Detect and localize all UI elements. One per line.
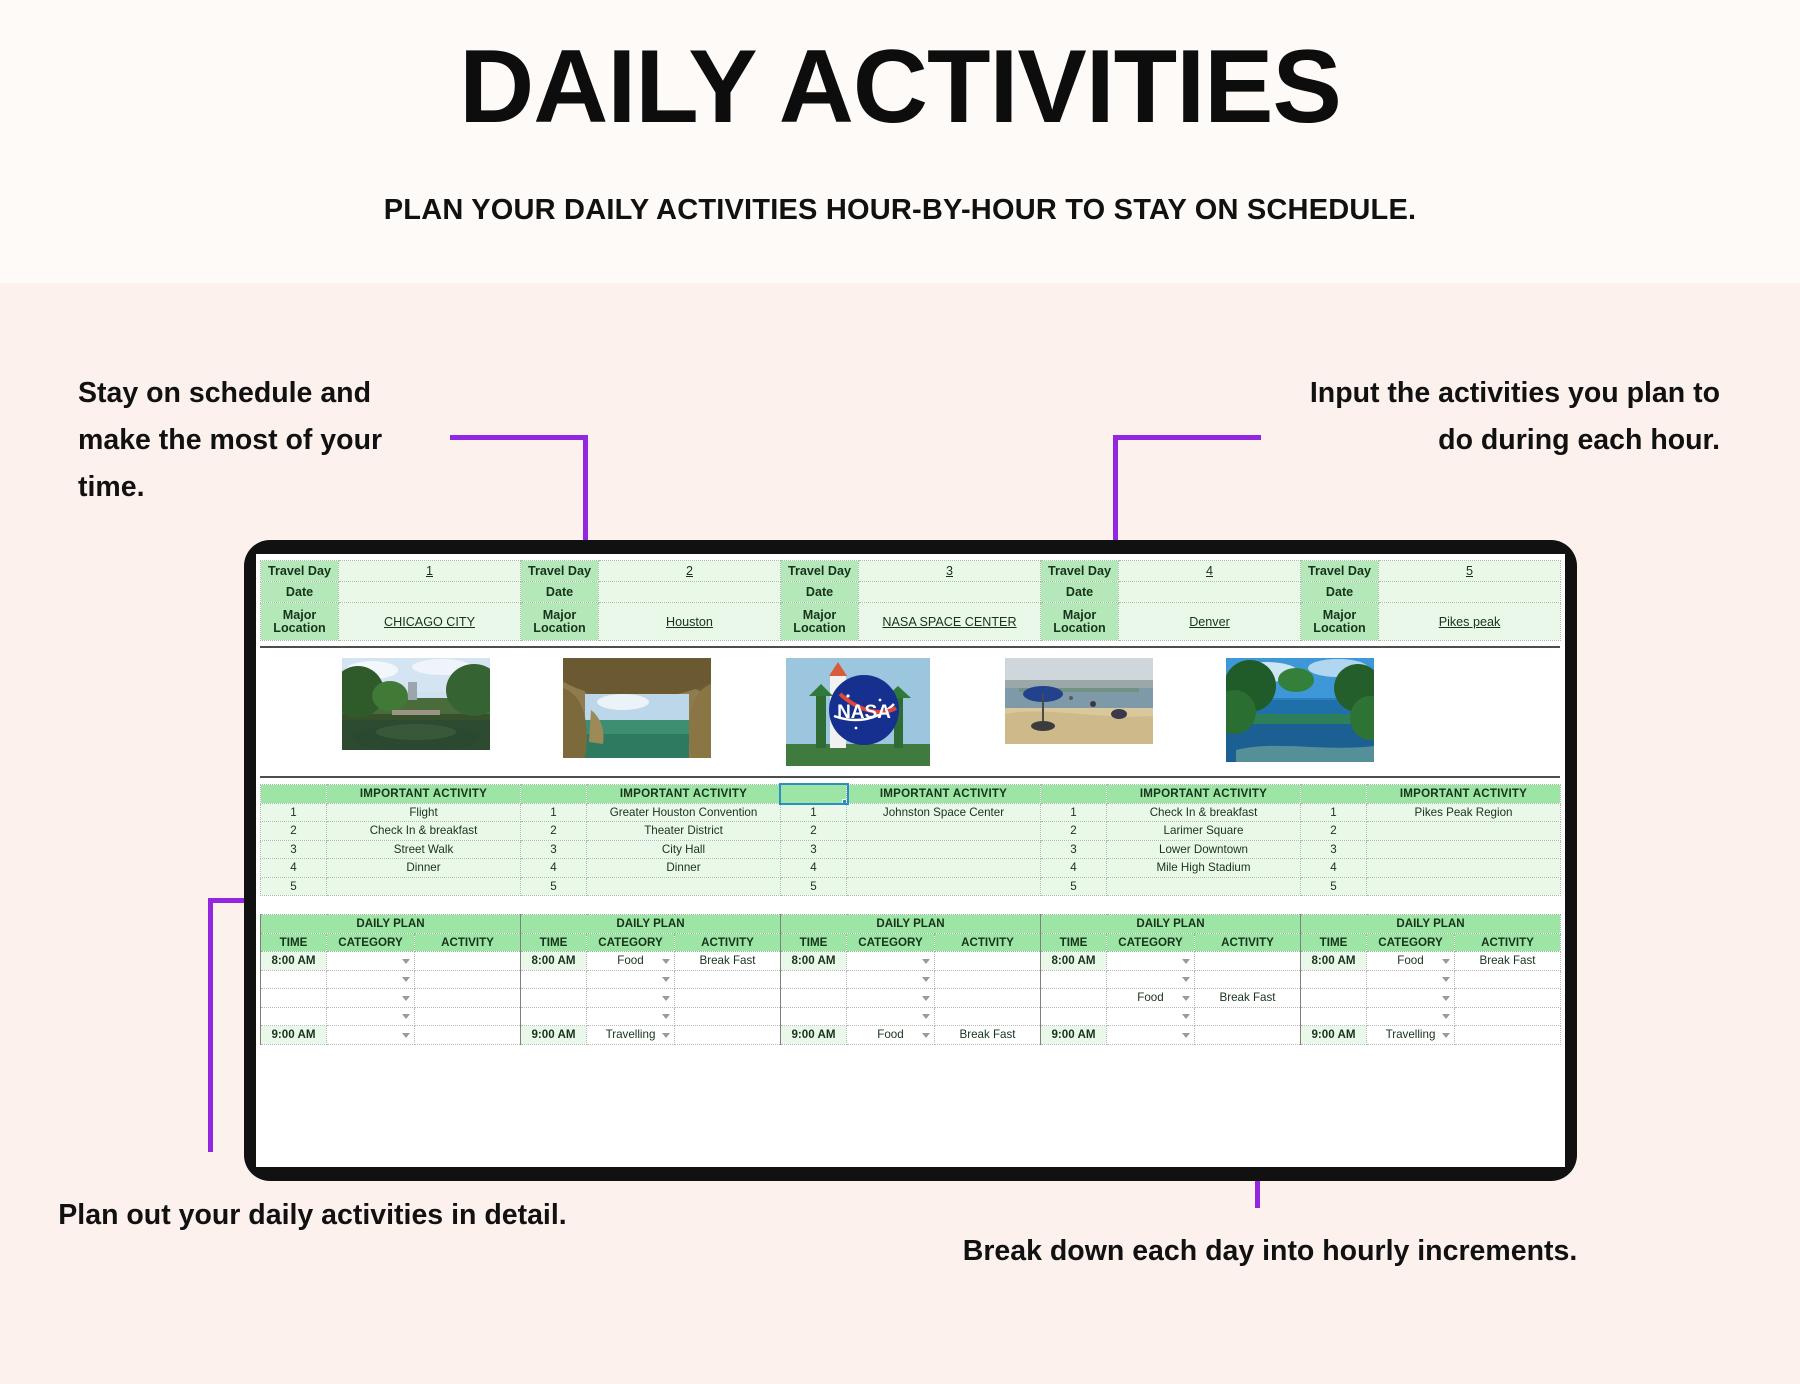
activity-num: 4 [1301, 859, 1367, 878]
value-major-location-1[interactable]: CHICAGO CITY [339, 603, 521, 641]
activity-value-d2-r4[interactable]: Dinner [587, 859, 781, 878]
table-row: 3 Street Walk 3 City Hall 3 3 Lower Down… [261, 840, 1561, 859]
plan-time-d2-r5[interactable]: 9:00 AM [521, 1026, 587, 1045]
plan-category-d1-r2[interactable] [327, 970, 415, 989]
plan-subheader-category-5: CATEGORY [1367, 933, 1455, 952]
daily-plan-table: DAILY PLAN DAILY PLAN DAILY PLAN DAILY P… [260, 914, 1561, 1045]
daily-plan-header-5: DAILY PLAN [1301, 915, 1561, 934]
value-travel-day-3[interactable]: 3 [859, 561, 1041, 582]
plan-category-d5-r2[interactable] [1367, 970, 1455, 989]
plan-category-d4-r1[interactable] [1107, 952, 1195, 971]
table-row [261, 1007, 1561, 1026]
plan-category-d1-r3[interactable] [327, 989, 415, 1008]
plan-time-d2-r1[interactable]: 8:00 AM [521, 952, 587, 971]
plan-time-d2-r3[interactable] [521, 989, 587, 1008]
activity-value-d1-r1[interactable]: Flight [327, 803, 521, 822]
plan-time-d4-r4[interactable] [1041, 1007, 1107, 1026]
plan-category-d5-r3[interactable] [1367, 989, 1455, 1008]
label-major-location-2: Major Location [521, 603, 599, 641]
daily-plan-header-3: DAILY PLAN [781, 915, 1041, 934]
plan-time-d5-r2[interactable] [1301, 970, 1367, 989]
label-travel-day-2: Travel Day [521, 561, 599, 582]
activity-header-1: IMPORTANT ACTIVITY [327, 785, 521, 804]
plan-category-d1-r4[interactable] [327, 1007, 415, 1026]
activity-num: 3 [521, 840, 587, 859]
activity-value-d1-r4[interactable]: Dinner [327, 859, 521, 878]
plan-category-d3-r3[interactable] [847, 989, 935, 1008]
activity-num: 2 [1041, 822, 1107, 841]
activity-header-blank-3-selected[interactable] [781, 785, 847, 804]
plan-subheader-activity-5: ACTIVITY [1455, 933, 1561, 952]
table-row: 9:00 AM 9:00 AM Travelling 9:00 AM Food … [261, 1026, 1561, 1045]
hamilton-pool-photo[interactable] [563, 658, 711, 758]
plan-activity-d3-r3[interactable] [935, 989, 1041, 1008]
chevron-down-icon[interactable] [1182, 1033, 1190, 1038]
plan-subheader-category-2: CATEGORY [587, 933, 675, 952]
chevron-down-icon[interactable] [922, 959, 930, 964]
activity-num: 4 [261, 859, 327, 878]
label-travel-day-5: Travel Day [1301, 561, 1379, 582]
plan-subheader-category-1: CATEGORY [327, 933, 415, 952]
chevron-down-icon[interactable] [402, 996, 410, 1001]
value-date-1[interactable] [339, 582, 521, 603]
activity-header-5: IMPORTANT ACTIVITY [1367, 785, 1561, 804]
activity-value-d2-r1[interactable]: Greater Houston Convention [587, 803, 781, 822]
table-row-plan-subheader: TIME CATEGORY ACTIVITY TIME CATEGORY ACT… [261, 933, 1561, 952]
activity-num: 3 [261, 840, 327, 859]
label-major-line2: Location [1313, 621, 1365, 635]
activity-value-d4-r2[interactable]: Larimer Square [1107, 822, 1301, 841]
divider-top [260, 646, 1560, 648]
value-major-location-5[interactable]: Pikes peak [1379, 603, 1561, 641]
plan-time-d1-r2[interactable] [261, 970, 327, 989]
device-frame: Travel Day 1 Travel Day 2 Travel Day 3 T… [244, 540, 1577, 1181]
plan-activity-d1-r2[interactable] [415, 970, 521, 989]
activity-value-d2-r2[interactable]: Theater District [587, 822, 781, 841]
label-date-5: Date [1301, 582, 1379, 603]
plan-category-d3-r4[interactable] [847, 1007, 935, 1026]
plan-time-d5-r4[interactable] [1301, 1007, 1367, 1026]
chevron-down-icon[interactable] [1182, 1014, 1190, 1019]
page-subtitle: PLAN YOUR DAILY ACTIVITIES HOUR-BY-HOUR … [0, 193, 1800, 227]
plan-time-d1-r1[interactable]: 8:00 AM [261, 952, 327, 971]
label-major-line1: Major [1323, 608, 1357, 622]
chevron-down-icon[interactable] [662, 1033, 670, 1038]
table-row-major-location: Major Location CHICAGO CITY Major Locati… [261, 603, 1561, 641]
plan-activity-d3-r4[interactable] [935, 1007, 1041, 1026]
divider-middle [260, 776, 1560, 778]
activity-value-d3-r3[interactable] [847, 840, 1041, 859]
plan-category-d1-r1[interactable] [327, 952, 415, 971]
plan-category-d2-r3[interactable] [587, 989, 675, 1008]
value-travel-day-5[interactable]: 5 [1379, 561, 1561, 582]
plan-activity-d3-r2[interactable] [935, 970, 1041, 989]
daily-plan-header-4: DAILY PLAN [1041, 915, 1301, 934]
activity-header-blank-2 [521, 785, 587, 804]
plan-category-d2-r5[interactable]: Travelling [587, 1026, 675, 1045]
label-date-1: Date [261, 582, 339, 603]
activity-value-d4-r1[interactable]: Check In & breakfast [1107, 803, 1301, 822]
activity-num: 3 [1041, 840, 1107, 859]
value-date-4[interactable] [1119, 582, 1301, 603]
plan-category-text: Food [1397, 954, 1423, 967]
plan-activity-d3-r5[interactable]: Break Fast [935, 1026, 1041, 1045]
activity-num: 5 [1301, 877, 1367, 896]
label-travel-day-4: Travel Day [1041, 561, 1119, 582]
photo-strip: NASA [260, 652, 1560, 773]
chevron-down-icon[interactable] [1442, 977, 1450, 982]
chevron-down-icon[interactable] [922, 977, 930, 982]
activity-value-d4-r5[interactable] [1107, 877, 1301, 896]
activity-header-blank-1 [261, 785, 327, 804]
activity-value-d5-r5[interactable] [1367, 877, 1561, 896]
chevron-down-icon[interactable] [662, 996, 670, 1001]
activity-num: 2 [261, 822, 327, 841]
plan-time-d2-r2[interactable] [521, 970, 587, 989]
plan-activity-d5-r4[interactable] [1455, 1007, 1561, 1026]
plan-category-d3-r1[interactable] [847, 952, 935, 971]
svg-text:NASA: NASA [837, 702, 891, 723]
plan-subheader-time-3: TIME [781, 933, 847, 952]
activity-value-d3-r1[interactable]: Johnston Space Center [847, 803, 1041, 822]
value-date-2[interactable] [599, 582, 781, 603]
chevron-down-icon[interactable] [922, 1014, 930, 1019]
plan-activity-d1-r1[interactable] [415, 952, 521, 971]
day-header-table: Travel Day 1 Travel Day 2 Travel Day 3 T… [260, 560, 1561, 641]
annotation-plan-in-detail: Plan out your daily activities in detail… [40, 1192, 585, 1239]
plan-subheader-activity-2: ACTIVITY [675, 933, 781, 952]
label-date-3: Date [781, 582, 859, 603]
table-row: 8:00 AM 8:00 AM Food Break Fast 8:00 AM … [261, 952, 1561, 971]
plan-subheader-activity-3: ACTIVITY [935, 933, 1041, 952]
plan-activity-d4-r5[interactable] [1195, 1026, 1301, 1045]
plan-time-d3-r4[interactable] [781, 1007, 847, 1026]
plan-time-d1-r4[interactable] [261, 1007, 327, 1026]
value-travel-day-4[interactable]: 4 [1119, 561, 1301, 582]
plan-time-d4-r1[interactable]: 8:00 AM [1041, 952, 1107, 971]
plan-activity-d4-r2[interactable] [1195, 970, 1301, 989]
activity-value-d2-r3[interactable]: City Hall [587, 840, 781, 859]
activity-value-d4-r3[interactable]: Lower Downtown [1107, 840, 1301, 859]
activity-value-d1-r3[interactable]: Street Walk [327, 840, 521, 859]
activity-num: 5 [261, 877, 327, 896]
label-travel-day-3: Travel Day [781, 561, 859, 582]
value-date-5[interactable] [1379, 582, 1561, 603]
chevron-down-icon[interactable] [1442, 1014, 1450, 1019]
label-major-location-4: Major Location [1041, 603, 1119, 641]
chevron-down-icon[interactable] [1182, 977, 1190, 982]
plan-subheader-activity-4: ACTIVITY [1195, 933, 1301, 952]
chevron-down-icon[interactable] [1442, 1033, 1450, 1038]
label-major-line2: Location [273, 621, 325, 635]
plan-activity-d5-r5[interactable] [1455, 1026, 1561, 1045]
value-major-location-3[interactable]: NASA SPACE CENTER [859, 603, 1041, 641]
activity-num: 4 [521, 859, 587, 878]
chevron-down-icon[interactable] [662, 977, 670, 982]
plan-time-d3-r3[interactable] [781, 989, 847, 1008]
label-major-line1: Major [283, 608, 317, 622]
activity-value-d1-r2[interactable]: Check In & breakfast [327, 822, 521, 841]
chevron-down-icon[interactable] [1442, 996, 1450, 1001]
plan-activity-d1-r5[interactable] [415, 1026, 521, 1045]
nasa-globe-photo[interactable]: NASA [786, 658, 930, 766]
plan-time-d5-r3[interactable] [1301, 989, 1367, 1008]
plan-subheader-time-2: TIME [521, 933, 587, 952]
plan-subheader-time-1: TIME [261, 933, 327, 952]
value-date-3[interactable] [859, 582, 1041, 603]
table-row: 2 Check In & breakfast 2 Theater Distric… [261, 822, 1561, 841]
table-row-date: Date Date Date Date Date [261, 582, 1561, 603]
table-row-plan-header: DAILY PLAN DAILY PLAN DAILY PLAN DAILY P… [261, 915, 1561, 934]
plan-activity-d1-r4[interactable] [415, 1007, 521, 1026]
plan-category-d2-r4[interactable] [587, 1007, 675, 1026]
activity-value-d3-r5[interactable] [847, 877, 1041, 896]
activity-num: 1 [781, 803, 847, 822]
activity-num: 5 [521, 877, 587, 896]
activity-header-blank-5 [1301, 785, 1367, 804]
plan-time-d3-r5[interactable]: 9:00 AM [781, 1026, 847, 1045]
plan-category-d5-r1[interactable]: Food [1367, 952, 1455, 971]
table-row: 4 Dinner 4 Dinner 4 4 Mile High Stadium … [261, 859, 1561, 878]
chevron-down-icon[interactable] [1182, 996, 1190, 1001]
plan-time-d5-r5[interactable]: 9:00 AM [1301, 1026, 1367, 1045]
label-travel-day-1: Travel Day [261, 561, 339, 582]
label-date-4: Date [1041, 582, 1119, 603]
activity-num: 1 [261, 803, 327, 822]
table-row: Food Break Fast [261, 989, 1561, 1008]
plan-activity-d4-r1[interactable] [1195, 952, 1301, 971]
label-major-line1: Major [803, 608, 837, 622]
plan-subheader-time-4: TIME [1041, 933, 1107, 952]
plan-category-text: Food [617, 954, 643, 967]
table-row [261, 970, 1561, 989]
value-travel-day-2[interactable]: 2 [599, 561, 781, 582]
activity-value-d2-r5[interactable] [587, 877, 781, 896]
plan-time-d4-r5[interactable]: 9:00 AM [1041, 1026, 1107, 1045]
plan-time-d4-r3[interactable] [1041, 989, 1107, 1008]
plan-time-d3-r1[interactable]: 8:00 AM [781, 952, 847, 971]
chevron-down-icon[interactable] [402, 1014, 410, 1019]
park-river-photo[interactable] [342, 658, 490, 750]
value-travel-day-1[interactable]: 1 [339, 561, 521, 582]
plan-category-d2-r1[interactable]: Food [587, 952, 675, 971]
beach-umbrella-photo[interactable] [1005, 658, 1153, 744]
plan-activity-d2-r5[interactable] [675, 1026, 781, 1045]
value-major-location-2[interactable]: Houston [599, 603, 781, 641]
plan-category-d4-r3[interactable]: Food [1107, 989, 1195, 1008]
activity-num: 1 [1301, 803, 1367, 822]
activity-num: 1 [521, 803, 587, 822]
plan-time-d1-r5[interactable]: 9:00 AM [261, 1026, 327, 1045]
activity-value-d5-r4[interactable] [1367, 859, 1561, 878]
label-major-line1: Major [1063, 608, 1097, 622]
plan-category-text: Travelling [1386, 1028, 1436, 1041]
daily-plan-header-1: DAILY PLAN [261, 915, 521, 934]
activity-header-2: IMPORTANT ACTIVITY [587, 785, 781, 804]
activity-num: 5 [781, 877, 847, 896]
activity-header-4: IMPORTANT ACTIVITY [1107, 785, 1301, 804]
spreadsheet-screen[interactable]: Travel Day 1 Travel Day 2 Travel Day 3 T… [256, 554, 1565, 1167]
activity-value-d1-r5[interactable] [327, 877, 521, 896]
annotation-stay-on-schedule: Stay on schedule and make the most of yo… [78, 370, 448, 511]
plan-time-d4-r2[interactable] [1041, 970, 1107, 989]
chevron-down-icon[interactable] [662, 959, 670, 964]
plan-subheader-activity-1: ACTIVITY [415, 933, 521, 952]
plan-activity-d2-r2[interactable] [675, 970, 781, 989]
plan-activity-d5-r3[interactable] [1455, 989, 1561, 1008]
value-major-location-4[interactable]: Denver [1119, 603, 1301, 641]
chevron-down-icon[interactable] [662, 1014, 670, 1019]
plan-activity-d5-r2[interactable] [1455, 970, 1561, 989]
label-major-line2: Location [533, 621, 585, 635]
table-row-activity-header: IMPORTANT ACTIVITY IMPORTANT ACTIVITY IM… [261, 785, 1561, 804]
label-major-location-5: Major Location [1301, 603, 1379, 641]
table-row-travel-day: Travel Day 1 Travel Day 2 Travel Day 3 T… [261, 561, 1561, 582]
plan-subheader-category-3: CATEGORY [847, 933, 935, 952]
activity-num: 4 [1041, 859, 1107, 878]
plan-activity-d2-r3[interactable] [675, 989, 781, 1008]
label-major-line1: Major [543, 608, 577, 622]
activity-value-d3-r4[interactable] [847, 859, 1041, 878]
activity-value-d5-r2[interactable] [1367, 822, 1561, 841]
plan-time-d3-r2[interactable] [781, 970, 847, 989]
plan-category-d2-r2[interactable] [587, 970, 675, 989]
chevron-down-icon[interactable] [922, 1033, 930, 1038]
chevron-down-icon[interactable] [1442, 959, 1450, 964]
activity-value-d5-r3[interactable] [1367, 840, 1561, 859]
activity-num: 5 [1041, 877, 1107, 896]
activity-num: 3 [1301, 840, 1367, 859]
plan-activity-d3-r1[interactable] [935, 952, 1041, 971]
plan-category-d4-r5[interactable] [1107, 1026, 1195, 1045]
annotation-hourly-increments: Break down each day into hourly incremen… [960, 1228, 1580, 1275]
plan-activity-d2-r1[interactable]: Break Fast [675, 952, 781, 971]
plan-time-d1-r3[interactable] [261, 989, 327, 1008]
plan-activity-d5-r1[interactable]: Break Fast [1455, 952, 1561, 971]
page-title: DAILY ACTIVITIES [0, 35, 1800, 139]
label-major-location-3: Major Location [781, 603, 859, 641]
activity-num: 2 [781, 822, 847, 841]
label-major-location-1: Major Location [261, 603, 339, 641]
plan-category-d4-r2[interactable] [1107, 970, 1195, 989]
chevron-down-icon[interactable] [922, 996, 930, 1001]
lake-trees-photo[interactable] [1226, 658, 1374, 762]
plan-category-text: Food [1137, 991, 1163, 1004]
chevron-down-icon[interactable] [402, 959, 410, 964]
plan-category-d3-r2[interactable] [847, 970, 935, 989]
plan-category-text: Travelling [606, 1028, 656, 1041]
activity-num: 3 [781, 840, 847, 859]
plan-activity-d4-r4[interactable] [1195, 1007, 1301, 1026]
table-row: 5 5 5 5 5 [261, 877, 1561, 896]
annotation-input-activities: Input the activities you plan to do duri… [1290, 370, 1720, 464]
activity-num: 4 [781, 859, 847, 878]
activity-value-d3-r2[interactable] [847, 822, 1041, 841]
daily-plan-header-2: DAILY PLAN [521, 915, 781, 934]
table-row: 1 Flight 1 Greater Houston Convention 1 … [261, 803, 1561, 822]
plan-category-text: Food [877, 1028, 903, 1041]
activity-value-d4-r4[interactable]: Mile High Stadium [1107, 859, 1301, 878]
plan-category-d4-r4[interactable] [1107, 1007, 1195, 1026]
plan-activity-d2-r4[interactable] [675, 1007, 781, 1026]
label-major-line2: Location [1053, 621, 1105, 635]
plan-activity-d4-r3[interactable]: Break Fast [1195, 989, 1301, 1008]
plan-category-d5-r4[interactable] [1367, 1007, 1455, 1026]
plan-time-d2-r4[interactable] [521, 1007, 587, 1026]
label-date-2: Date [521, 582, 599, 603]
activity-header-3: IMPORTANT ACTIVITY [847, 785, 1041, 804]
plan-subheader-category-4: CATEGORY [1107, 933, 1195, 952]
chevron-down-icon[interactable] [402, 1033, 410, 1038]
chevron-down-icon[interactable] [402, 977, 410, 982]
activity-num: 2 [521, 822, 587, 841]
label-major-line2: Location [793, 621, 845, 635]
plan-category-d5-r5[interactable]: Travelling [1367, 1026, 1455, 1045]
plan-category-d3-r5[interactable]: Food [847, 1026, 935, 1045]
plan-subheader-time-5: TIME [1301, 933, 1367, 952]
activity-num: 2 [1301, 822, 1367, 841]
activity-value-d5-r1[interactable]: Pikes Peak Region [1367, 803, 1561, 822]
plan-time-d5-r1[interactable]: 8:00 AM [1301, 952, 1367, 971]
chevron-down-icon[interactable] [1182, 959, 1190, 964]
activity-header-blank-4 [1041, 785, 1107, 804]
plan-activity-d1-r3[interactable] [415, 989, 521, 1008]
plan-category-d1-r5[interactable] [327, 1026, 415, 1045]
important-activity-table: IMPORTANT ACTIVITY IMPORTANT ACTIVITY IM… [260, 784, 1561, 896]
activity-num: 1 [1041, 803, 1107, 822]
